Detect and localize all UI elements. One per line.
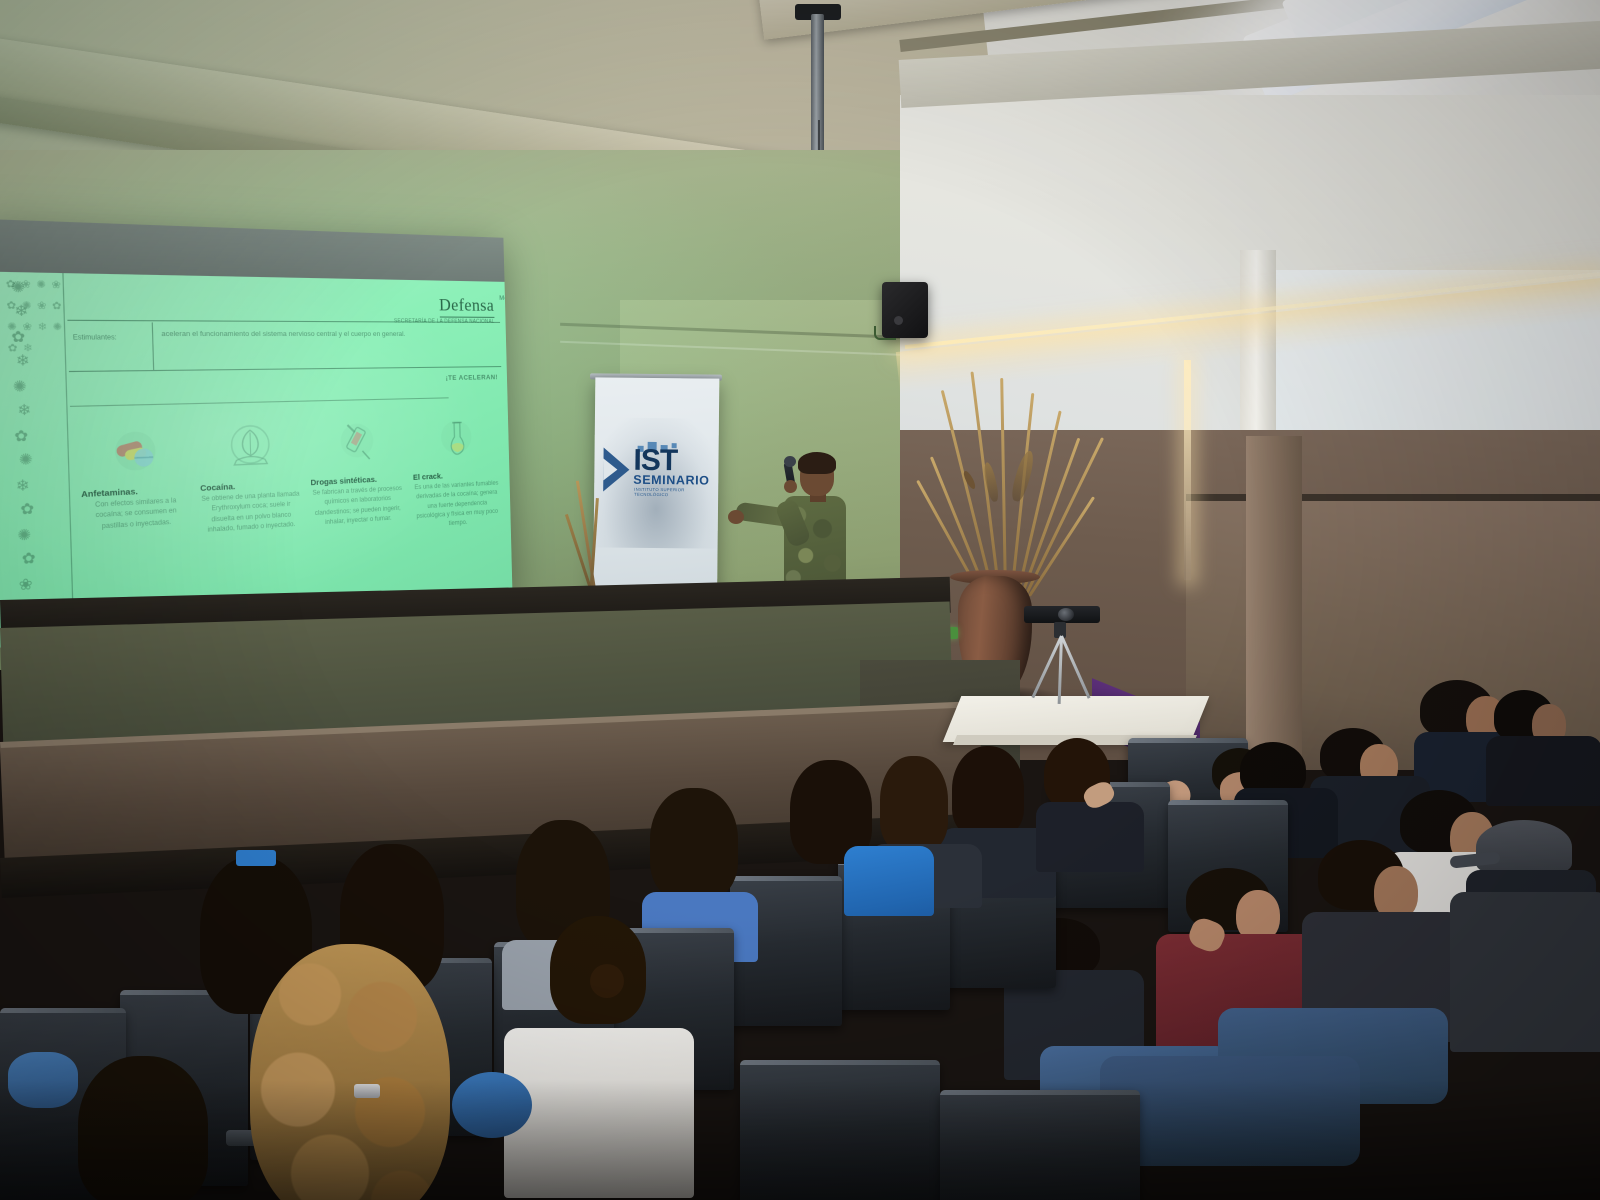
- syringe-icon: [309, 409, 403, 478]
- column-body: Se obtiene de una planta llamada Erythro…: [200, 490, 301, 537]
- column-body: Es una de las variantes fumables derivad…: [413, 479, 500, 532]
- crack-pipe-icon: [411, 406, 499, 472]
- hair-clip-silver: [354, 1084, 380, 1098]
- audience-blue-bag: [452, 1072, 532, 1138]
- camera-lens: [1058, 608, 1074, 621]
- audience-blue-bag: [8, 1052, 78, 1108]
- slide-ornamental-border: ✺ ✿ ❄ ❀ ✿ ✺ ❄ ❀ ✺ ✿ ❄ ✺ ✿ ❀ ✺ ✿ ❄ ✺ ✿ ❀: [6, 272, 75, 646]
- dried-reeds: [930, 366, 1090, 596]
- slide-column: Drogas sintéticas. Se fabrican a través …: [303, 409, 411, 614]
- brand-name: Defensa: [439, 295, 495, 318]
- hair-clip-blue: [236, 850, 276, 866]
- pills-icon: [79, 414, 189, 489]
- slide-row-text: aceleran el funcionamiento del sistema n…: [161, 329, 444, 341]
- slide-divider: [69, 366, 501, 372]
- audience-area: [0, 660, 1600, 1200]
- slide-divider-vertical: [152, 322, 155, 370]
- banner-subtitle: INSTITUTO SUPERIOR TECNOLÓGICO: [634, 487, 711, 498]
- camera-icon: [1024, 606, 1100, 623]
- wall-wash-light-vertical: [1184, 360, 1191, 580]
- slide-row-label: Estimulantes:: [73, 334, 148, 343]
- dried-plume: [1009, 449, 1037, 503]
- auditorium-seat[interactable]: [740, 1060, 940, 1200]
- coca-leaf-icon: [198, 411, 300, 483]
- presenter-hair: [798, 452, 836, 474]
- slide-content: Defensa SECRETARÍA DE LA DEFENSA NACIONA…: [66, 280, 507, 635]
- auditorium-seat[interactable]: [940, 1090, 1140, 1200]
- banner-title: SEMINARIO: [633, 474, 709, 487]
- speaker-bracket: [874, 326, 896, 340]
- banner-logo-text: IST: [633, 446, 677, 476]
- auditorium-scene: ✺ ✿ ❄ ❀ ✿ ✺ ❄ ❀ ✺ ✿ ❄ ✺ ✿ ❀ ✺ ✿ ❄ ✺ ✿ ❀: [0, 0, 1600, 1200]
- slide-brand: Defensa SECRETARÍA DE LA DEFENSA NACIONA…: [393, 294, 494, 325]
- audience-curly-hair: [250, 944, 450, 1200]
- slide-divider: [70, 397, 449, 407]
- audience-white-shirt: [504, 1028, 694, 1198]
- projection-screen: ✺ ✿ ❄ ❀ ✿ ✺ ❄ ❀ ✺ ✿ ❄ ✺ ✿ ❀ ✺ ✿ ❄ ✺ ✿ ❀: [0, 219, 513, 649]
- audience-hair-bun: [590, 964, 624, 998]
- column-body: Con efectos similares a la cocaína; se c…: [81, 496, 190, 534]
- presenter-left-hand: [728, 510, 744, 524]
- baseball-cap-icon: [1476, 820, 1572, 874]
- microphone-head: [784, 456, 796, 467]
- column-body: Se fabrican a través de procesos químico…: [311, 485, 405, 530]
- slide-tagline: ¡TE ACELERAN!: [446, 374, 498, 382]
- presenter-right-hand: [784, 480, 797, 493]
- slide-column: El crack. Es una de las variantes fumabl…: [406, 406, 507, 603]
